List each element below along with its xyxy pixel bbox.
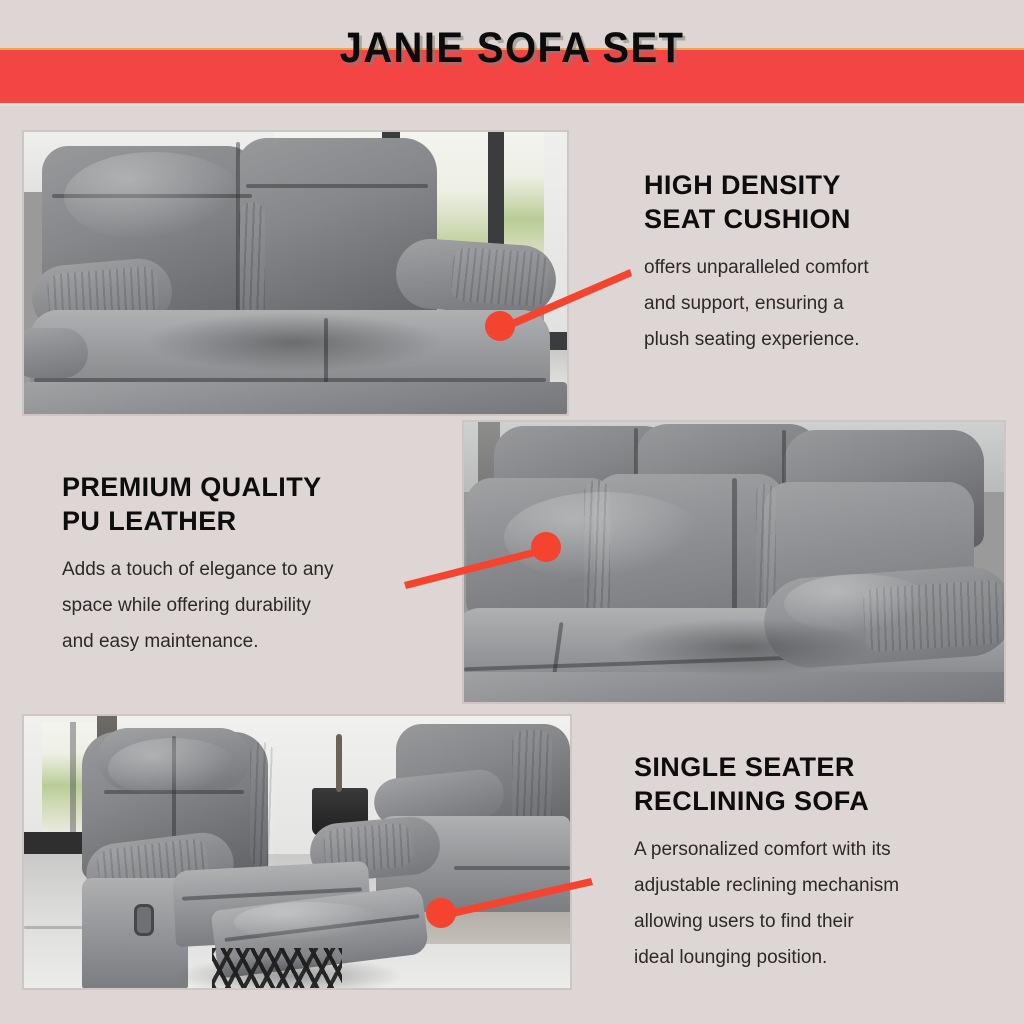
feature-heading: PREMIUM QUALITY PU LEATHER: [62, 470, 402, 538]
photo-three-seater: [462, 420, 1006, 704]
recliner-back-highlight: [108, 738, 238, 798]
photo-loveseat: [22, 130, 569, 416]
feature-block-high-density-seat-cushion: HIGH DENSITY SEAT CUSHION offers unparal…: [644, 168, 974, 358]
back-sofa-ribs: [512, 730, 552, 830]
page-title: JANIE SOFA SET: [36, 22, 988, 74]
infographic-page: JANIE SOFA SET: [0, 0, 1024, 1024]
seat-shadow: [144, 312, 444, 372]
seat-base: [462, 672, 1006, 704]
feature-block-premium-quality-pu-leather: PREMIUM QUALITY PU LEATHER Adds a touch …: [62, 470, 402, 660]
loveseat-scene: [24, 132, 567, 414]
lumbar-highlight: [504, 492, 704, 582]
photo-recliner: [22, 714, 572, 990]
arm-far-left: [22, 328, 88, 378]
feature-heading: SINGLE SEATER RECLINING SOFA: [634, 750, 974, 818]
three-seater-scene: [464, 422, 1004, 702]
recliner-footrest-highlight: [234, 902, 384, 942]
backrest-right: [237, 138, 437, 333]
base-front: [24, 382, 567, 416]
feature-body: offers unparalleled comfort and support,…: [644, 250, 974, 358]
arm-right-ribs: [450, 247, 550, 308]
backrest-seam-top-right: [246, 184, 428, 188]
plant-stem: [336, 734, 342, 792]
recliner-back-ribs: [250, 742, 274, 868]
feature-block-single-seater-reclining-sofa: SINGLE SEATER RECLINING SOFA A personali…: [634, 750, 974, 976]
recliner-floor-shadow: [174, 956, 404, 990]
seat-shadow-2: [614, 618, 874, 676]
feature-heading: HIGH DENSITY SEAT CUSHION: [644, 168, 974, 236]
back-sofa-seat-seam: [454, 866, 570, 870]
feature-body: Adds a touch of elegance to any space wh…: [62, 552, 402, 660]
backrest-highlight: [64, 152, 244, 242]
recliner-lever: [134, 904, 154, 936]
recliner-scene: [24, 716, 570, 988]
window-post: [70, 722, 76, 832]
feature-body: A personalized comfort with its adjustab…: [634, 832, 974, 976]
